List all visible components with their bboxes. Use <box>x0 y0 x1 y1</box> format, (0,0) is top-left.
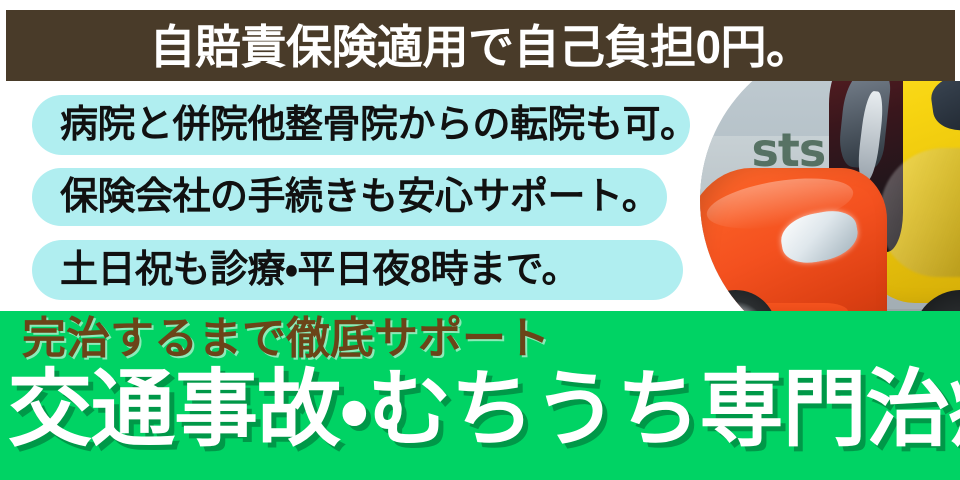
promo-sub-headline: 完治するまで徹底サポート <box>22 317 550 361</box>
feature-pill-opening-hours: 土日祝も診療・平日夜8時まで。 <box>32 240 683 300</box>
feature-pill-insurance-support-label: 保険会社の手続きも安心サポート。 <box>60 178 659 216</box>
advertisement-banner: sts 自賠責保険適用で自己負担0円。 病院と併院他整骨院からの転院も可。 保険… <box>0 0 960 480</box>
promo-block: 完治するまで徹底サポート 交通事故・むちうち専門治療 <box>0 311 960 480</box>
feature-pill-opening-hours-label: 土日祝も診療・平日夜8時まで。 <box>60 251 579 289</box>
promo-main-headline: 交通事故・むちうち専門治療 <box>8 367 952 451</box>
feature-pill-transfer: 病院と併院他整骨院からの転院も可。 <box>32 95 690 155</box>
insurance-headline-band: 自賠責保険適用で自己負担0円。 <box>6 10 955 81</box>
insurance-headline-text: 自賠責保険適用で自己負担0円。 <box>149 24 811 70</box>
feature-pill-insurance-support: 保険会社の手続きも安心サポート。 <box>32 168 667 226</box>
car-crash-photo: sts <box>652 81 960 313</box>
feature-pill-transfer-label: 病院と併院他整骨院からの転院も可。 <box>60 106 698 144</box>
photo-circle-mask: sts <box>700 81 960 313</box>
